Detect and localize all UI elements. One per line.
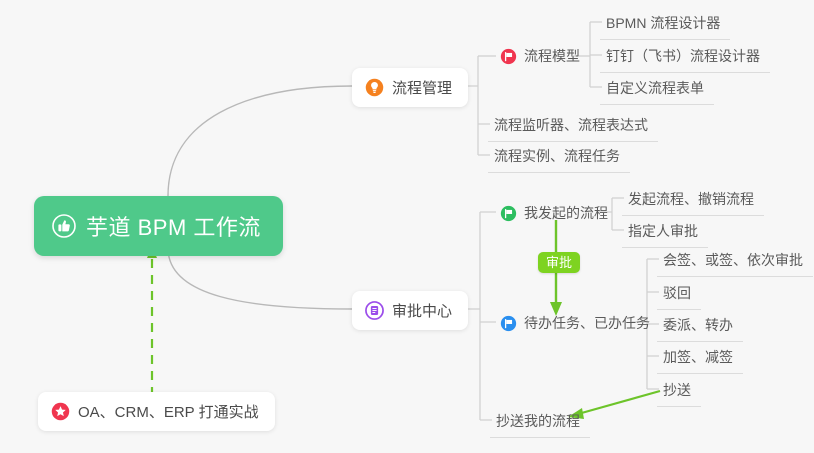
node-listener-expression-label: 流程监听器、流程表达式 [494,115,648,135]
branch-process-management-label: 流程管理 [392,77,452,98]
star-icon [51,402,70,421]
flag-blue-icon [500,315,517,332]
node-dingtalk-feishu-designer-label: 钉钉（飞书）流程设计器 [606,46,760,66]
node-todo-done-tasks-label: 待办任务、已办任务 [524,313,650,333]
branch-approval-center-label: 审批中心 [392,300,452,321]
node-cc[interactable]: 抄送 [657,376,701,407]
node-bpmn-designer[interactable]: BPMN 流程设计器 [600,9,730,40]
lightbulb-icon [365,78,384,97]
node-custom-process-form-label: 自定义流程表单 [606,78,704,98]
node-multi-sign[interactable]: 会签、或签、依次审批 [657,246,813,277]
node-add-remove-sign[interactable]: 加签、减签 [657,343,743,374]
mindmap-canvas: 芋道 BPM 工作流 OA、CRM、ERP 打通实战 流程管理 [0,0,814,453]
flag-green-icon [500,205,517,222]
node-instance-task[interactable]: 流程实例、流程任务 [488,142,630,173]
node-process-model-label: 流程模型 [524,46,580,66]
node-assignee-approval-label: 指定人审批 [628,221,698,241]
node-multi-sign-label: 会签、或签、依次审批 [663,250,803,270]
node-custom-process-form[interactable]: 自定义流程表单 [600,74,714,105]
edge-root-process-management [168,86,352,196]
node-start-cancel-process-label: 发起流程、撤销流程 [628,189,754,209]
node-delegate-transfer[interactable]: 委派、转办 [657,311,743,342]
thumbs-up-icon [52,214,76,238]
branch-approval-center[interactable]: 审批中心 [352,291,468,330]
root-label: 芋道 BPM 工作流 [86,210,261,242]
node-my-started-process-label: 我发起的流程 [524,203,608,223]
node-reject-label: 驳回 [663,283,691,303]
connector-label-approval-text: 审批 [546,256,572,269]
node-listener-expression[interactable]: 流程监听器、流程表达式 [488,111,658,142]
flag-red-icon [500,48,517,65]
root-node[interactable]: 芋道 BPM 工作流 [34,196,283,256]
node-add-remove-sign-label: 加签、减签 [663,347,733,367]
connector-label-approval: 审批 [538,252,580,273]
edge-root-approval-center [168,248,352,309]
node-delegate-transfer-label: 委派、转办 [663,315,733,335]
branch-process-management[interactable]: 流程管理 [352,68,468,107]
clipboard-purple-icon [365,301,384,320]
node-my-started-process[interactable]: 我发起的流程 [494,199,618,229]
node-todo-done-tasks[interactable]: 待办任务、已办任务 [494,309,660,339]
node-dingtalk-feishu-designer[interactable]: 钉钉（飞书）流程设计器 [600,42,770,73]
node-bpmn-designer-label: BPMN 流程设计器 [606,13,720,33]
bottom-note-node[interactable]: OA、CRM、ERP 打通实战 [38,392,275,431]
bottom-note-label: OA、CRM、ERP 打通实战 [78,401,259,422]
arrow-cc-to-cc-my-process [578,391,660,414]
node-reject[interactable]: 驳回 [657,279,701,310]
node-instance-task-label: 流程实例、流程任务 [494,146,620,166]
node-start-cancel-process[interactable]: 发起流程、撤销流程 [622,185,764,216]
node-process-model[interactable]: 流程模型 [494,42,590,72]
node-cc-my-process-label: 抄送我的流程 [496,411,580,431]
node-assignee-approval[interactable]: 指定人审批 [622,217,708,248]
node-cc-label: 抄送 [663,380,691,400]
node-cc-my-process[interactable]: 抄送我的流程 [490,407,590,438]
